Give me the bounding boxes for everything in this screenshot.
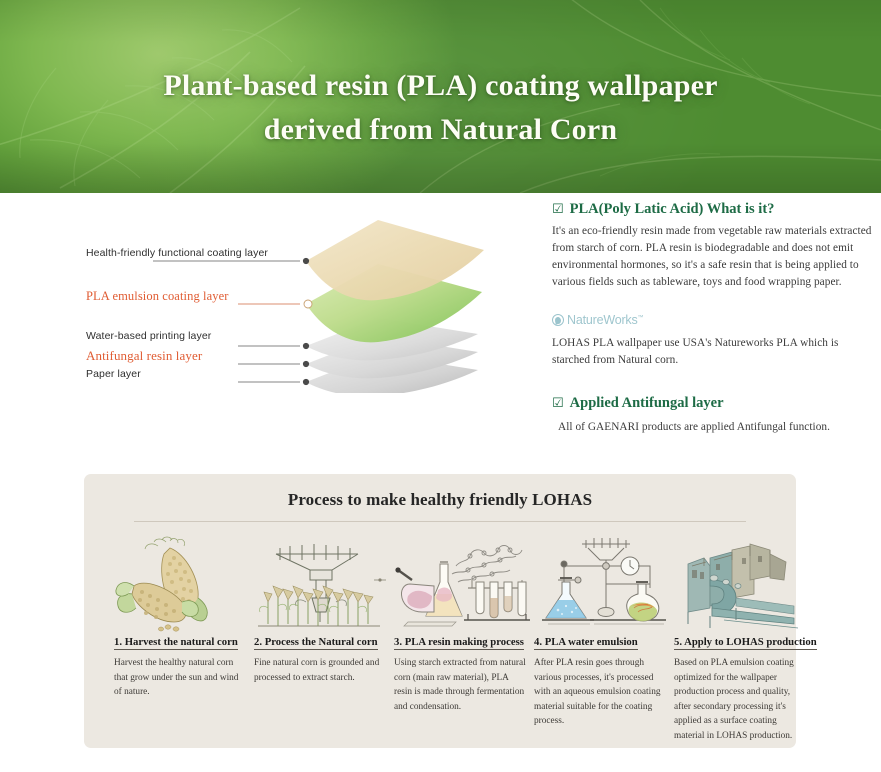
natureworks-logo-icon [552,314,564,326]
step-title: 2. Process the Natural corn [254,636,378,650]
info-column: ☑ PLA(Poly Latic Acid) What is it? It's … [552,201,874,436]
natureworks-body: LOHAS PLA wallpaper use USA's Naturework… [552,335,874,369]
layer-label-4: Paper layer [86,368,141,380]
process-step: 2. Process the Natural corn Fine natural… [254,536,394,743]
layer-label-0: Health-friendly functional coating layer [86,247,268,259]
step-description: Harvest the healthy natural corn that gr… [114,656,246,700]
process-step: 1. Harvest the natural corn Harvest the … [114,536,254,743]
process-panel: Process to make healthy friendly LOHAS [84,474,796,748]
natureworks-logo: NatureWorks™ [552,313,874,327]
step-description: Fine natural corn is grounded and proces… [254,656,386,685]
layer-label-1: PLA emulsion coating layer [86,289,229,304]
step-description: Based on PLA emulsion coating optimized … [674,656,806,743]
checkbox-checked-icon: ☑ [552,397,564,410]
step-title: 5. Apply to LOHAS production [674,636,817,650]
wallpaper-production-machine-illustration [674,536,814,632]
corn-cobs-illustration [114,536,254,632]
step-description: Using starch extracted from natural corn… [394,656,526,714]
step-description: After PLA resin goes through various pro… [534,656,666,729]
pla-section-body: It's an eco-friendly resin made from veg… [552,223,874,291]
process-step: 5. Apply to LOHAS production Based on PL… [674,536,814,743]
layer-label-3: Antifungal resin layer [86,348,202,364]
wallpaper-layer-diagram: Health-friendly functional coating layer… [78,218,518,393]
process-step: 4. PLA water emulsion After PLA resin go… [534,536,674,743]
step-title: 3. PLA resin making process [394,636,524,650]
hero-banner: Plant-based resin (PLA) coating wallpape… [0,0,881,193]
layer-label-group: Health-friendly functional coating layer… [78,218,518,393]
pla-section-heading: ☑ PLA(Poly Latic Acid) What is it? [552,201,874,218]
page-title: Plant-based resin (PLA) coating wallpape… [0,64,881,152]
step-title: 4. PLA water emulsion [534,636,638,650]
chemistry-apparatus-illustration [534,536,674,632]
page-title-line-2: derived from Natural Corn [0,108,881,152]
process-step-list: 1. Harvest the natural corn Harvest the … [84,522,796,743]
middle-section: Health-friendly functional coating layer… [0,193,881,473]
layer-label-2: Water-based printing layer [86,330,211,342]
antifungal-section-heading: ☑ Applied Antifungal layer [552,395,874,412]
harvester-machine-illustration [254,536,394,632]
antifungal-body: All of GAENARI products are applied Anti… [552,419,874,436]
step-title: 1. Harvest the natural corn [114,636,238,650]
process-panel-title: Process to make healthy friendly LOHAS [84,474,796,510]
antifungal-heading-text: Applied Antifungal layer [570,395,724,412]
checkbox-checked-icon: ☑ [552,203,564,216]
page-title-line-1: Plant-based resin (PLA) coating wallpape… [0,64,881,108]
pla-heading-text: PLA(Poly Latic Acid) What is it? [570,201,775,218]
lab-flask-molecule-illustration [394,536,534,632]
process-step: 3. PLA resin making process Using starch… [394,536,534,743]
natureworks-logo-text: NatureWorks™ [567,313,643,327]
